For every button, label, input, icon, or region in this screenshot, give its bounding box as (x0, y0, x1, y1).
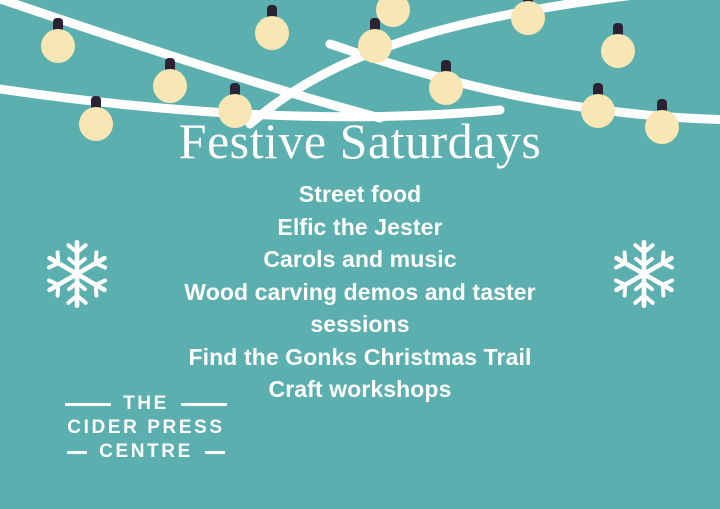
logo-word-cider-press: CIDER PRESS (67, 418, 224, 438)
logo-rule-right (181, 403, 227, 406)
logo-word-the: THE (123, 394, 169, 414)
logo-word-centre: CENTRE (99, 442, 193, 462)
event-list: Street food Elfic the Jester Carols and … (145, 178, 575, 406)
event-list-item: Wood carving demos and taster sessions (145, 276, 575, 341)
snowflake-icon (41, 238, 113, 310)
light-bulb (429, 60, 463, 105)
logo-rule-left (67, 451, 87, 454)
poster-title: Festive Saturdays (0, 113, 720, 169)
cider-press-centre-logo: THE CIDER PRESS CENTRE (50, 392, 242, 464)
light-bulb (601, 23, 635, 68)
event-list-item: Elfic the Jester (145, 211, 575, 244)
festive-saturdays-poster: Festive Saturdays Street food Elfic the … (0, 0, 720, 509)
light-bulb (358, 18, 392, 63)
event-list-item: Street food (145, 178, 575, 211)
light-wire-upper-left (0, 0, 380, 118)
event-list-item: Carols and music (145, 243, 575, 276)
logo-line-centre: CENTRE (50, 440, 242, 464)
event-list-item: Find the Gonks Christmas Trail (145, 341, 575, 374)
light-bulb (41, 18, 75, 63)
light-wire-lower-right (330, 44, 720, 120)
light-bulb (511, 0, 545, 35)
snowflake-icon (608, 238, 680, 310)
light-bulb (376, 0, 410, 27)
light-bulb (153, 58, 187, 103)
logo-line-cider-press: CIDER PRESS (50, 416, 242, 440)
logo-rule-right (205, 451, 225, 454)
logo-rule-left (65, 403, 111, 406)
light-wire-upper-right (250, 0, 720, 124)
light-bulb (255, 5, 289, 50)
logo-line-the: THE (50, 392, 242, 416)
